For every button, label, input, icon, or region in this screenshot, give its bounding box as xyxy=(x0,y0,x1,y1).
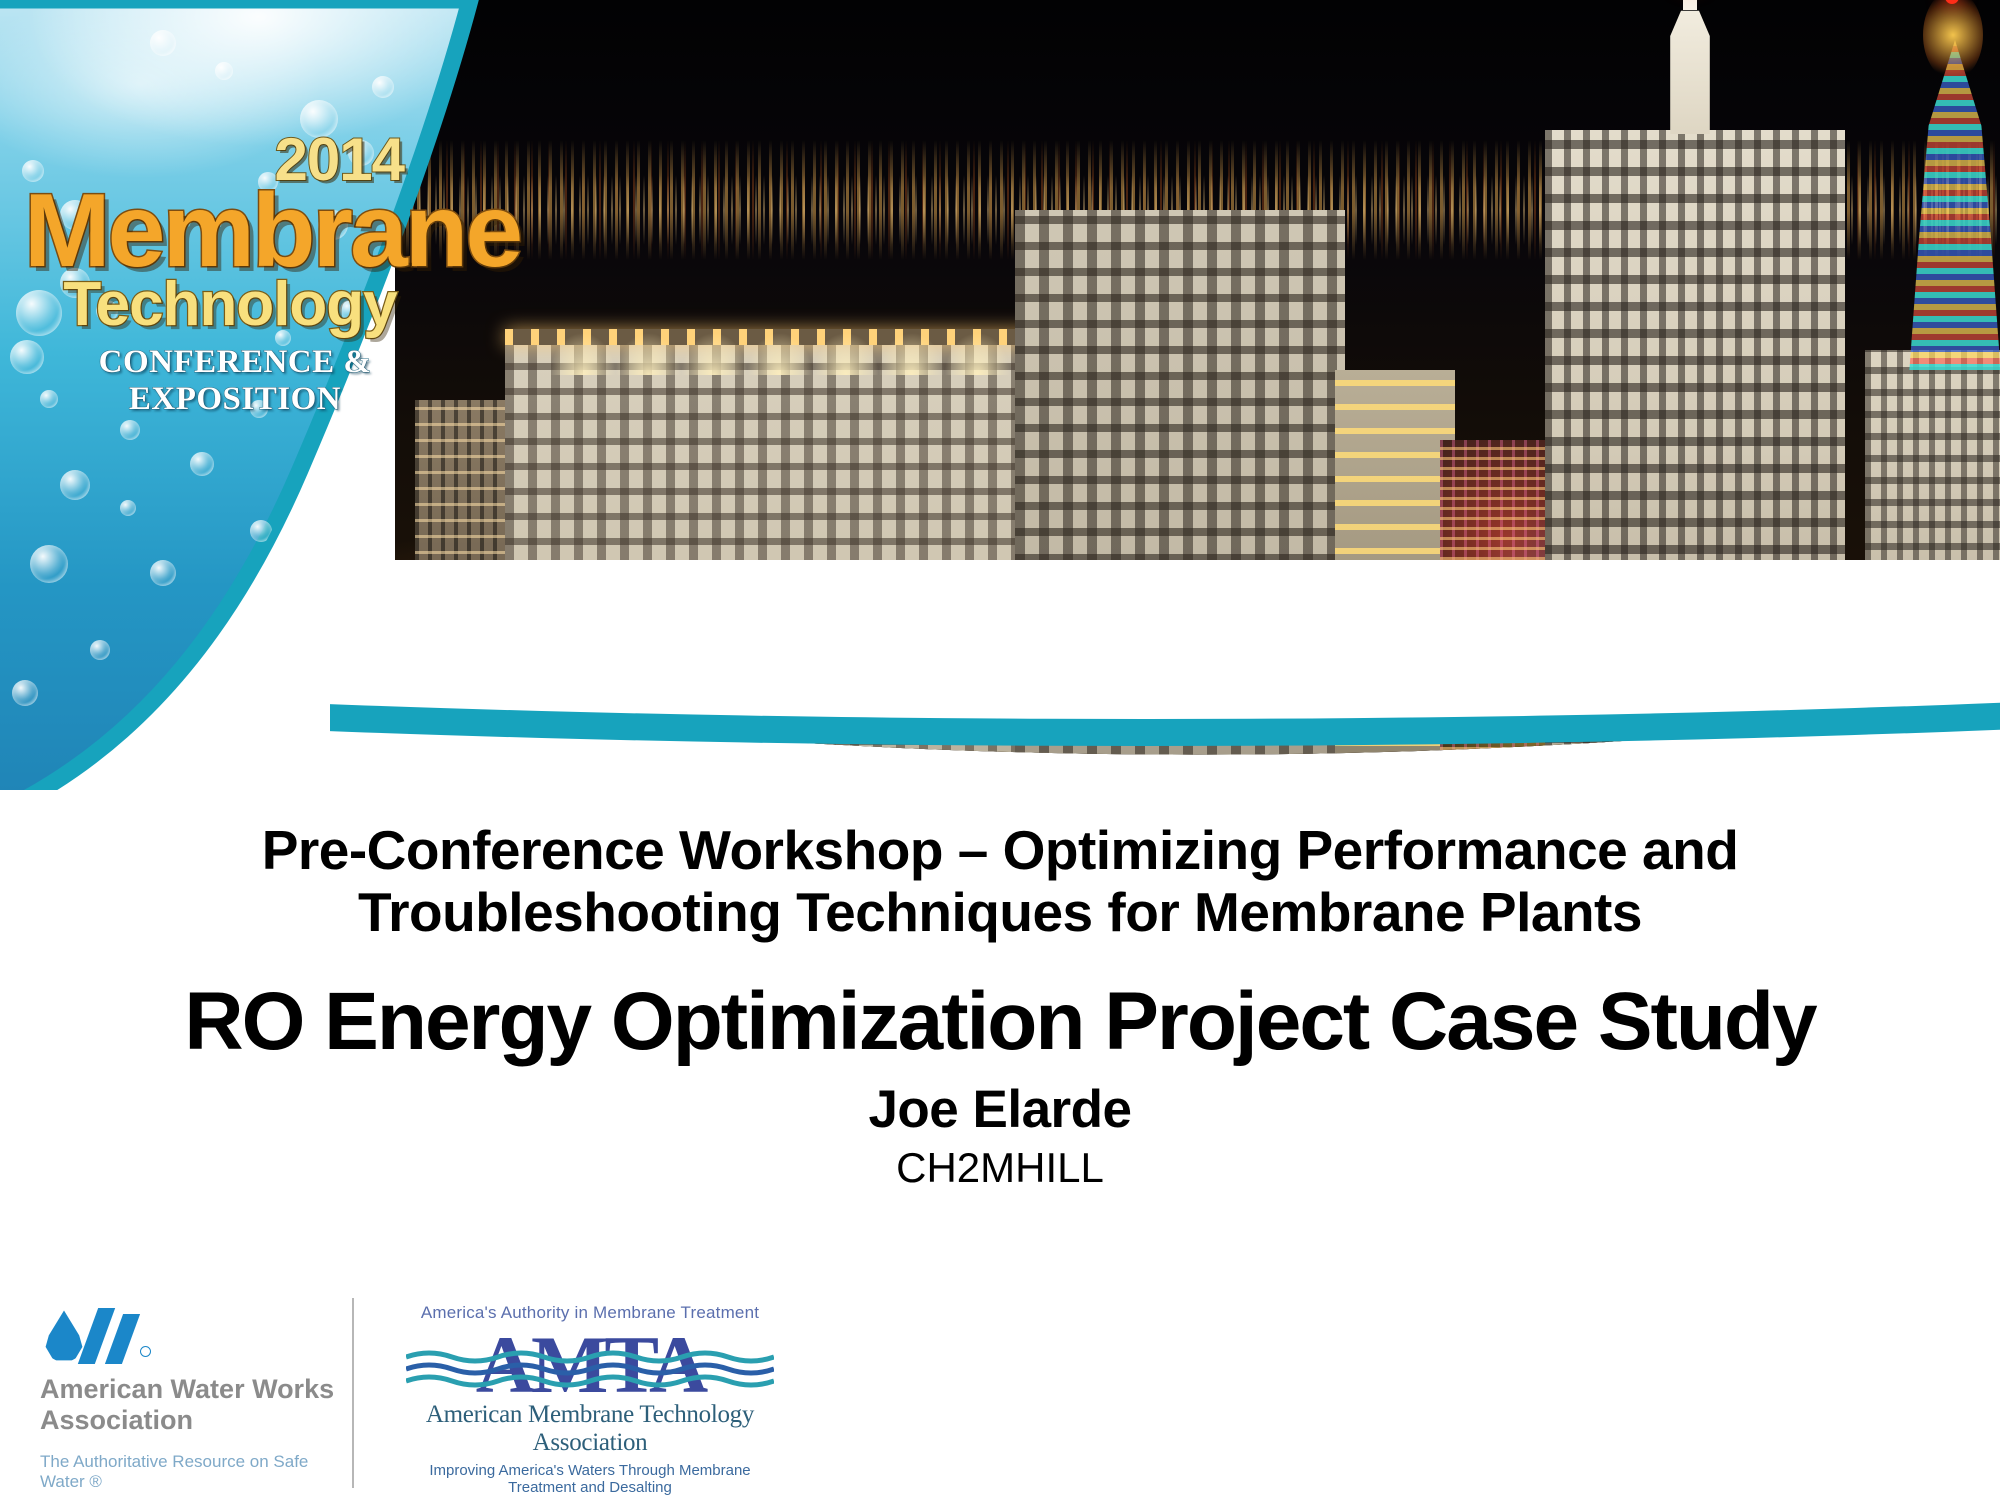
slide-text-content: Pre-Conference Workshop – Optimizing Per… xyxy=(0,820,2000,1192)
workshop-subtitle-line1: Pre-Conference Workshop – Optimizing Per… xyxy=(85,820,1915,882)
logo-word-membrane: Membrane xyxy=(10,184,490,280)
amta-acronym: AMTA xyxy=(400,1325,780,1405)
workshop-subtitle-line2: Troubleshooting Techniques for Membrane … xyxy=(85,882,1915,944)
awwa-logo: American Water Works Association The Aut… xyxy=(40,1302,340,1492)
slide-header-banner: 2014 Membrane Technology CONFERENCE & EX… xyxy=(0,0,2000,790)
membrane-technology-conference-logo: 2014 Membrane Technology CONFERENCE & EX… xyxy=(10,130,490,418)
awwa-name-line2: Association xyxy=(40,1405,340,1436)
amta-logo: America's Authority in Membrane Treatmen… xyxy=(400,1303,780,1496)
logo-divider xyxy=(352,1298,354,1488)
amta-acronym-wrap: AMTA xyxy=(400,1325,780,1405)
presenter-name: Joe Elarde xyxy=(0,1079,2000,1140)
sponsor-logos-footer: American Water Works Association The Aut… xyxy=(0,1290,2000,1500)
workshop-subtitle: Pre-Conference Workshop – Optimizing Per… xyxy=(85,820,1915,943)
logo-conference-expo: CONFERENCE & EXPOSITION xyxy=(10,344,490,418)
awwa-tagline: The Authoritative Resource on Safe Water… xyxy=(40,1452,340,1492)
awwa-name: American Water Works Association xyxy=(40,1374,340,1436)
presentation-title: RO Energy Optimization Project Case Stud… xyxy=(60,979,1940,1065)
white-curve-fill xyxy=(330,560,2000,790)
awwa-waterdrop-icon xyxy=(44,1302,154,1364)
presentation-slide: 2014 Membrane Technology CONFERENCE & EX… xyxy=(0,0,2000,1500)
presenter-company: CH2MHILL xyxy=(0,1144,2000,1192)
amta-tagline-bottom: Improving America's Waters Through Membr… xyxy=(400,1462,780,1496)
fountain-lights xyxy=(545,315,1015,375)
spire-mast xyxy=(1683,0,1697,10)
awwa-name-line1: American Water Works xyxy=(40,1374,340,1405)
